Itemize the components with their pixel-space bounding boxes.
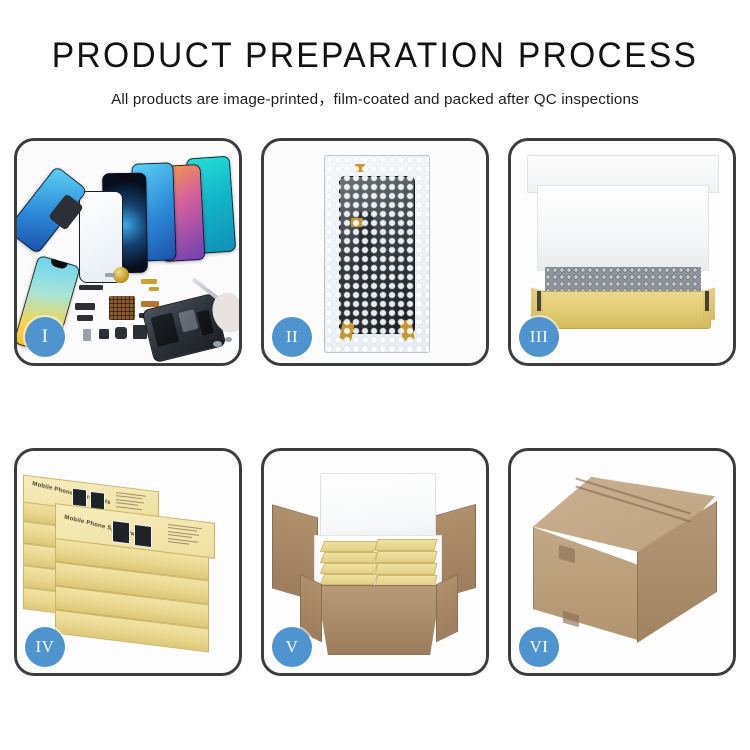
- box-product-image-front-1: [112, 520, 130, 544]
- step-panel-3[interactable]: III: [508, 138, 736, 366]
- component-camera: [83, 329, 91, 341]
- component-connector-a: [75, 303, 95, 310]
- packed-box-a2: [320, 552, 378, 563]
- component-screw-2: [225, 337, 232, 342]
- step-badge-6: VI: [519, 627, 559, 667]
- step-badge-2: II: [272, 317, 312, 357]
- box-product-image-back-1: [72, 488, 87, 508]
- foam-back-wall: [537, 185, 709, 271]
- kraft-corner-left: [537, 291, 541, 311]
- step-badge-3: III: [519, 317, 559, 357]
- packed-box-a4: [320, 574, 378, 585]
- component-speaker-coil: [113, 267, 129, 283]
- step-badge-5: V: [272, 627, 312, 667]
- step-panel-5[interactable]: V: [261, 448, 489, 676]
- component-screw: [213, 341, 222, 347]
- packed-box-b2: [375, 551, 438, 563]
- page-header: PRODUCT PREPARATION PROCESS All products…: [0, 0, 750, 109]
- step-badge-1: I: [25, 317, 65, 357]
- bubble-wrap-bag: [324, 155, 430, 353]
- page-subtitle: All products are image-printed，film-coat…: [0, 87, 750, 109]
- step-panel-1[interactable]: I: [14, 138, 242, 366]
- carton-right-wall: [436, 574, 458, 643]
- process-step-grid: I II: [14, 138, 736, 676]
- component-gold-chip: [149, 287, 159, 291]
- kraft-corner-right: [705, 291, 709, 311]
- packed-box-b3: [375, 563, 438, 575]
- component-logic-board: [109, 296, 135, 320]
- packed-box-b1: [375, 539, 438, 551]
- packed-box-a1: [320, 541, 378, 552]
- box-spec-lines-back: [116, 492, 146, 513]
- component-bar: [79, 285, 103, 290]
- component-connector-b: [77, 315, 93, 321]
- packed-box-a3: [320, 563, 378, 574]
- component-small-silver: [105, 273, 115, 277]
- kraft-box-front: [537, 291, 711, 329]
- component-button: [99, 329, 109, 339]
- step-panel-2[interactable]: II: [261, 138, 489, 366]
- foam-lid: [320, 473, 436, 543]
- component-gold-flex: [141, 279, 157, 284]
- carton-front-wall: [308, 585, 450, 655]
- box-label-front: Mobile Phone Spare Parts: [64, 515, 143, 540]
- box-spec-lines-front: [168, 524, 202, 549]
- step-panel-4[interactable]: Mobile Phone Spare Parts Mobile Phone Sp…: [14, 448, 242, 676]
- component-vibrator: [115, 327, 127, 339]
- page-title: PRODUCT PREPARATION PROCESS: [15, 38, 735, 73]
- box-product-image-front-2: [134, 524, 152, 548]
- step-badge-4: IV: [25, 627, 65, 667]
- step-panel-6[interactable]: VI: [508, 448, 736, 676]
